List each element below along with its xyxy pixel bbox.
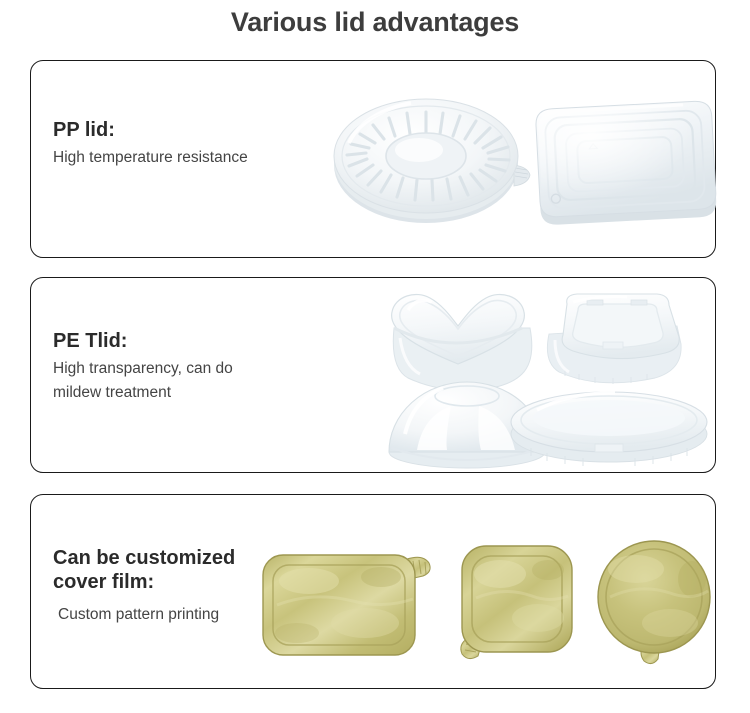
panel-cover-film: Can be customized cover film: Custom pat… <box>30 494 716 689</box>
cover-film-heading: Can be customized cover film: <box>53 547 235 594</box>
panel-pet-lid: PE Tlid: High transparency, can do milde… <box>30 277 716 473</box>
square-gold-foil-art <box>461 546 572 659</box>
round-pp-lid-art <box>334 99 530 223</box>
oval-pet-lid-art <box>511 392 707 466</box>
pp-lid-text-block: PP lid: High temperature resistance <box>53 119 248 170</box>
round-gold-foil-art <box>598 541 710 664</box>
pp-lid-description: High temperature resistance <box>53 146 248 170</box>
pet-lid-description: High transparency, can do mildew treatme… <box>53 357 233 405</box>
cover-film-text-block: Can be customized cover film: Custom pat… <box>53 547 235 627</box>
square-pet-lid-art <box>547 294 681 384</box>
dome-pet-lid-art <box>389 382 545 468</box>
heart-pet-lid-art <box>392 294 532 397</box>
page-title: Various lid advantages <box>0 7 750 38</box>
pp-lid-heading: PP lid: <box>53 119 248 143</box>
rect-gold-foil-art <box>263 555 430 655</box>
rectangular-pp-lid-art <box>535 100 717 225</box>
pet-lid-heading: PE Tlid: <box>53 330 233 354</box>
cover-film-description: Custom pattern printing <box>53 597 235 627</box>
panel-pp-lid: PP lid: High temperature resistance <box>30 60 716 258</box>
pet-lid-text-block: PE Tlid: High transparency, can do milde… <box>53 330 233 405</box>
